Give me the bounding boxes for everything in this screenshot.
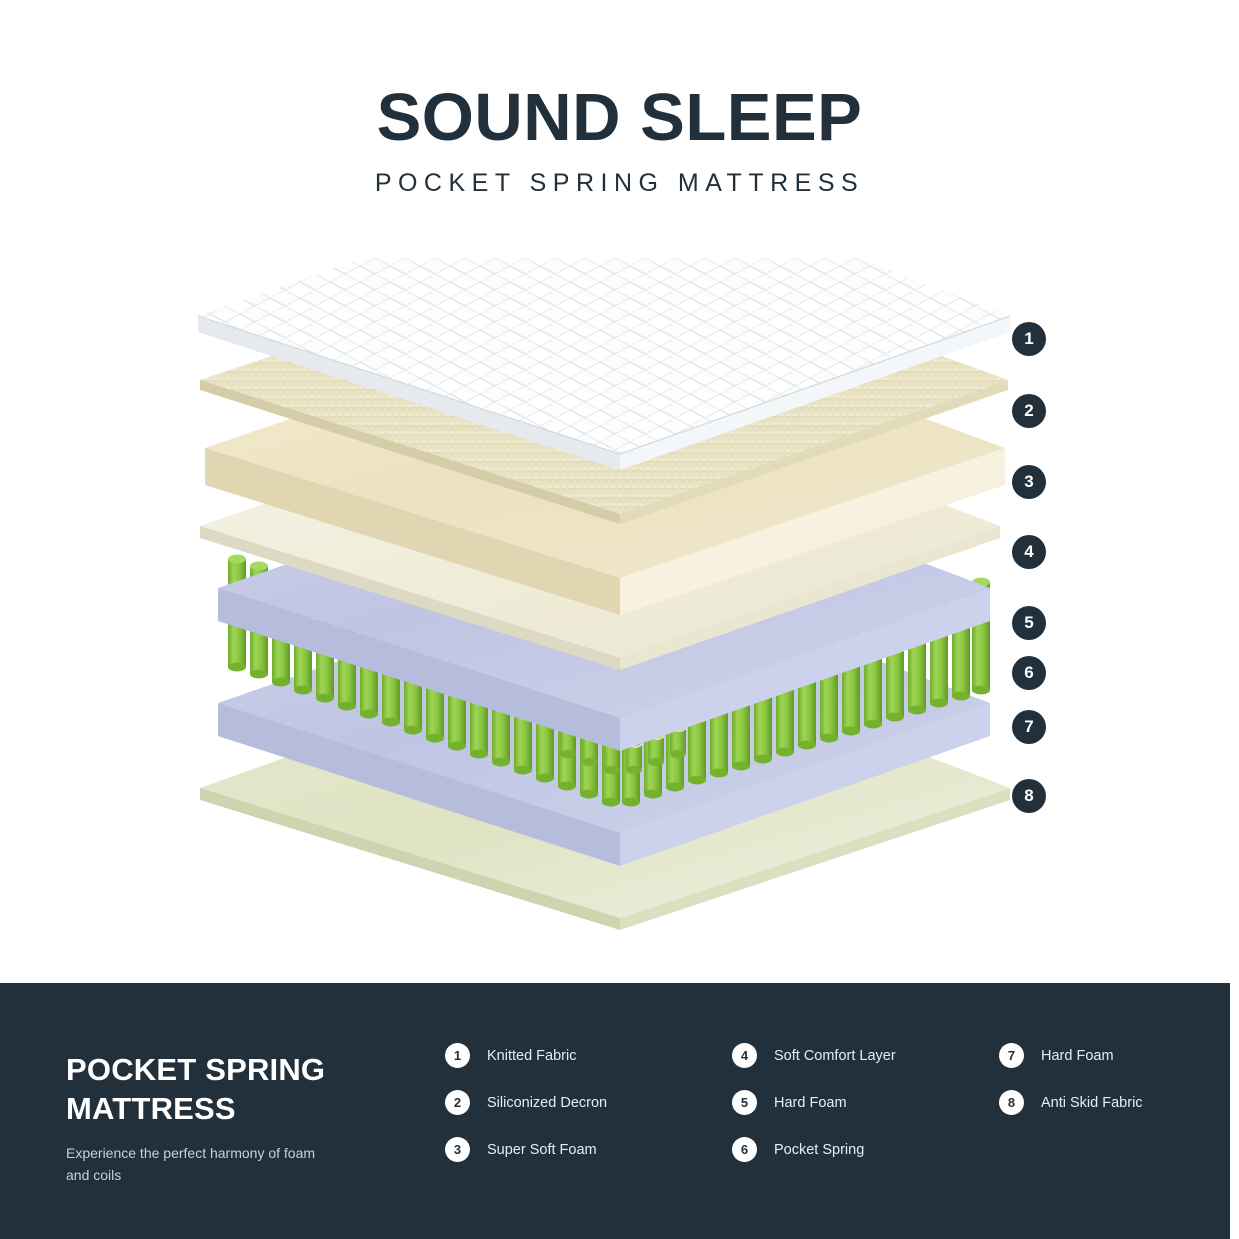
- legend-label: Pocket Spring: [774, 1142, 864, 1158]
- layer-badge-7[interactable]: 7: [1012, 710, 1046, 744]
- legend-column-3: 7 Hard Foam 8 Anti Skid Fabric: [999, 1043, 1143, 1137]
- legend-number: 6: [732, 1137, 757, 1162]
- layer-badge-6[interactable]: 6: [1012, 656, 1046, 690]
- layer-badge-8[interactable]: 8: [1012, 779, 1046, 813]
- legend-item[interactable]: 2 Siliconized Decron: [445, 1090, 607, 1115]
- footer-heading: POCKET SPRING MATTRESS: [66, 1051, 386, 1129]
- page-title: SOUND SLEEP: [0, 84, 1239, 151]
- legend-number: 4: [732, 1043, 757, 1068]
- page-subtitle: POCKET SPRING MATTRESS: [0, 169, 1239, 198]
- layer-number-badges: 1 2 3 4 5 6 7 8: [1012, 258, 1072, 958]
- legend-label: Anti Skid Fabric: [1041, 1095, 1143, 1111]
- legend-label: Soft Comfort Layer: [774, 1048, 896, 1064]
- legend-number: 7: [999, 1043, 1024, 1068]
- legend-label: Hard Foam: [1041, 1048, 1114, 1064]
- legend-item[interactable]: 7 Hard Foam: [999, 1043, 1143, 1068]
- layer-badge-5[interactable]: 5: [1012, 606, 1046, 640]
- layer-badge-4[interactable]: 4: [1012, 535, 1046, 569]
- legend-number: 3: [445, 1137, 470, 1162]
- legend-number: 1: [445, 1043, 470, 1068]
- layer-badge-3[interactable]: 3: [1012, 465, 1046, 499]
- legend-item[interactable]: 4 Soft Comfort Layer: [732, 1043, 896, 1068]
- legend-item[interactable]: 1 Knitted Fabric: [445, 1043, 607, 1068]
- infographic-page: SOUND SLEEP POCKET SPRING MATTRESS: [0, 0, 1239, 1239]
- legend-label: Knitted Fabric: [487, 1048, 576, 1064]
- legend-label: Super Soft Foam: [487, 1142, 597, 1158]
- layer-badge-1[interactable]: 1: [1012, 322, 1046, 356]
- legend-number: 5: [732, 1090, 757, 1115]
- legend-column-2: 4 Soft Comfort Layer 5 Hard Foam 6 Pocke…: [732, 1043, 896, 1184]
- layer-badge-2[interactable]: 2: [1012, 394, 1046, 428]
- footer-subtext: Experience the perfect harmony of foam a…: [66, 1143, 326, 1186]
- legend-item[interactable]: 5 Hard Foam: [732, 1090, 896, 1115]
- legend-item[interactable]: 3 Super Soft Foam: [445, 1137, 607, 1162]
- footer-panel: POCKET SPRING MATTRESS Experience the pe…: [0, 983, 1230, 1239]
- legend-item[interactable]: 6 Pocket Spring: [732, 1137, 896, 1162]
- legend-item[interactable]: 8 Anti Skid Fabric: [999, 1090, 1143, 1115]
- legend-number: 8: [999, 1090, 1024, 1115]
- legend-column-1: 1 Knitted Fabric 2 Siliconized Decron 3 …: [445, 1043, 607, 1184]
- legend-label: Siliconized Decron: [487, 1095, 607, 1111]
- legend-number: 2: [445, 1090, 470, 1115]
- header: SOUND SLEEP POCKET SPRING MATTRESS: [0, 0, 1239, 198]
- legend-label: Hard Foam: [774, 1095, 847, 1111]
